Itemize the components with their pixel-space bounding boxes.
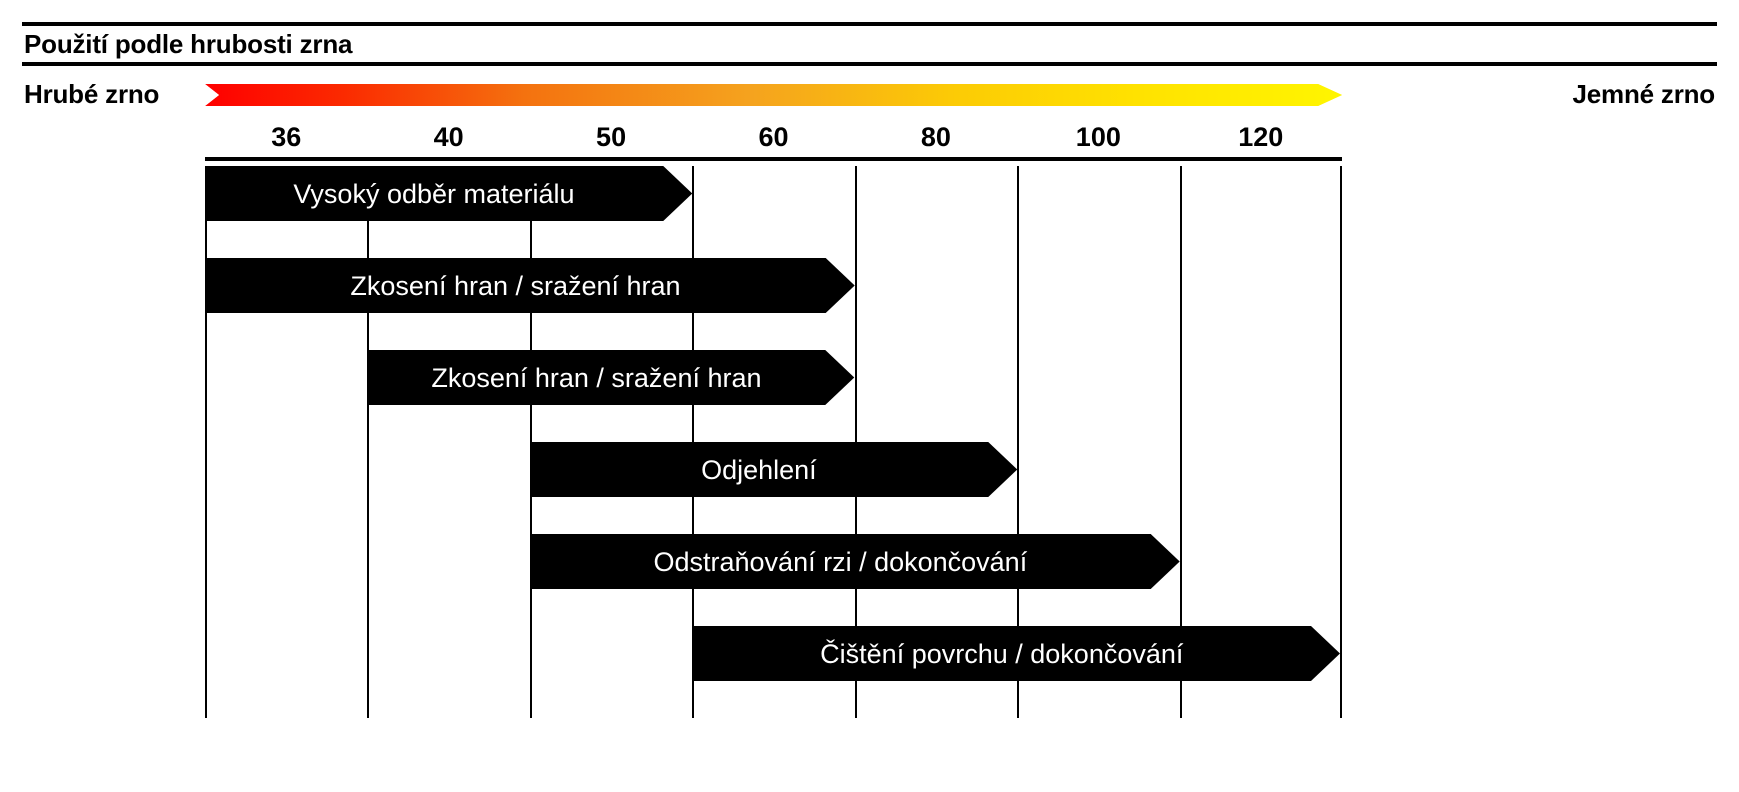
legend-label-coarse: Hrubé zrno	[24, 78, 159, 110]
grit-usage-chart: Použití podle hrubosti zrna Hrubé zrno	[0, 0, 1739, 792]
grain-scale-legend: Hrubé zrno J	[0, 72, 1739, 118]
grit-tick-label: 80	[921, 122, 951, 152]
grit-axis-header: 36 40 50 60 80 100 120	[205, 122, 1342, 164]
grit-tick-6: 120	[1180, 122, 1342, 164]
bar-row-3[interactable]	[530, 442, 1017, 497]
grit-tick-4: 80	[855, 122, 1017, 164]
grit-tick-underline	[1017, 157, 1179, 161]
grit-tick-label: 40	[434, 122, 464, 152]
chart-plot-area: Vysoký odběr materiálu Zkosení hran / sr…	[205, 166, 1342, 718]
bar-row-2[interactable]	[367, 350, 854, 405]
grit-tick-label: 36	[271, 122, 301, 152]
grit-tick-label: 60	[758, 122, 788, 152]
grit-tick-0: 36	[205, 122, 367, 164]
gridline-0	[205, 166, 207, 718]
grit-tick-1: 40	[367, 122, 529, 164]
grit-tick-2: 50	[530, 122, 692, 164]
bar-row-1[interactable]	[205, 258, 855, 313]
bar-row-4[interactable]	[530, 534, 1180, 589]
right-arrow-gradient-icon	[205, 84, 1342, 106]
bar-row-5[interactable]	[692, 626, 1340, 681]
grit-tick-5: 100	[1017, 122, 1179, 164]
legend-label-fine: Jemné zrno	[1573, 78, 1716, 110]
divider-middle	[22, 62, 1717, 66]
grit-tick-underline	[692, 157, 854, 161]
grit-tick-underline	[1180, 157, 1342, 161]
page-title: Použití podle hrubosti zrna	[24, 28, 352, 60]
gridline-7	[1340, 166, 1342, 718]
grit-tick-underline	[855, 157, 1017, 161]
grit-tick-underline	[205, 157, 367, 161]
grit-tick-label: 120	[1238, 122, 1283, 152]
grit-tick-label: 100	[1076, 122, 1121, 152]
grit-tick-underline	[530, 157, 692, 161]
bar-row-0[interactable]	[205, 166, 692, 221]
grit-tick-3: 60	[692, 122, 854, 164]
grit-tick-underline	[367, 157, 529, 161]
grit-tick-label: 50	[596, 122, 626, 152]
divider-top	[22, 22, 1717, 26]
gridline-1	[367, 166, 369, 718]
